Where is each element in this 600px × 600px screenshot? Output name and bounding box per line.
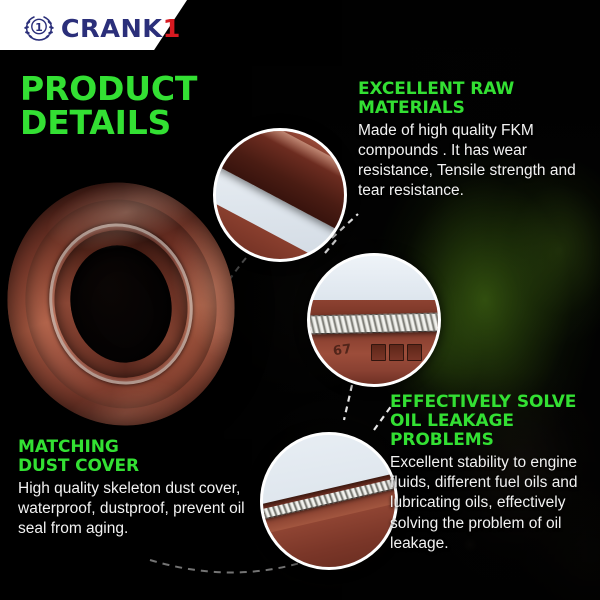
page-title-line-1: PRODUCT — [20, 72, 250, 106]
feature-effectively-solve-oil-leakage-problems: EFFECTIVELY SOLVE OIL LEAKAGE PROBLEMS E… — [390, 393, 586, 554]
callout-oil-leak — [260, 432, 398, 570]
seal-notch — [389, 344, 404, 361]
brand-name-suffix: 1 — [163, 14, 181, 43]
feature-matching-dust-cover: MATCHING DUST COVER High quality skeleto… — [18, 438, 250, 539]
feature-heading: MATCHING DUST COVER — [18, 438, 250, 476]
garter-spring-coil — [307, 312, 441, 334]
seal-size-stamp: 67 — [332, 342, 353, 360]
feature-heading-line-1: EXCELLENT RAW — [358, 79, 514, 99]
feature-excellent-raw-materials: EXCELLENT RAW MATERIALS Made of high qua… — [358, 80, 586, 202]
feature-body: High quality skeleton dust cover, waterp… — [18, 479, 250, 539]
feature-heading-line-1: MATCHING — [18, 437, 119, 457]
page-title-line-2: DETAILS — [20, 106, 250, 140]
feature-body: Excellent stability to engine fluids, di… — [390, 453, 586, 554]
callout-raw-material — [213, 128, 347, 262]
brand-logo[interactable]: 1 CRANK1 — [14, 6, 189, 50]
callout-background — [310, 256, 438, 302]
feature-heading-line-2: OIL LEAKAGE — [390, 411, 514, 431]
wreath-number: 1 — [35, 21, 43, 34]
feature-heading: EFFECTIVELY SOLVE OIL LEAKAGE PROBLEMS — [390, 393, 586, 450]
feature-heading-line-1: EFFECTIVELY SOLVE — [390, 392, 576, 412]
feature-heading-line-2: MATERIALS — [358, 98, 465, 118]
laurel-wreath-number-one-icon: 1 — [22, 13, 56, 43]
brand-wordmark: CRANK1 — [61, 16, 181, 41]
seal-notch — [407, 344, 422, 361]
feature-heading: EXCELLENT RAW MATERIALS — [358, 80, 586, 118]
feature-body: Made of high quality FKM compounds . It … — [358, 121, 586, 202]
feature-heading-line-2: DUST COVER — [18, 456, 139, 476]
feature-heading-line-3: PROBLEMS — [390, 430, 494, 450]
product-details-infographic: 67 — [0, 0, 600, 600]
seal-notch — [371, 344, 386, 361]
callout-spring: 67 — [307, 253, 441, 387]
brand-name-primary: CRANK — [61, 14, 163, 43]
page-title: PRODUCT DETAILS — [20, 72, 250, 141]
